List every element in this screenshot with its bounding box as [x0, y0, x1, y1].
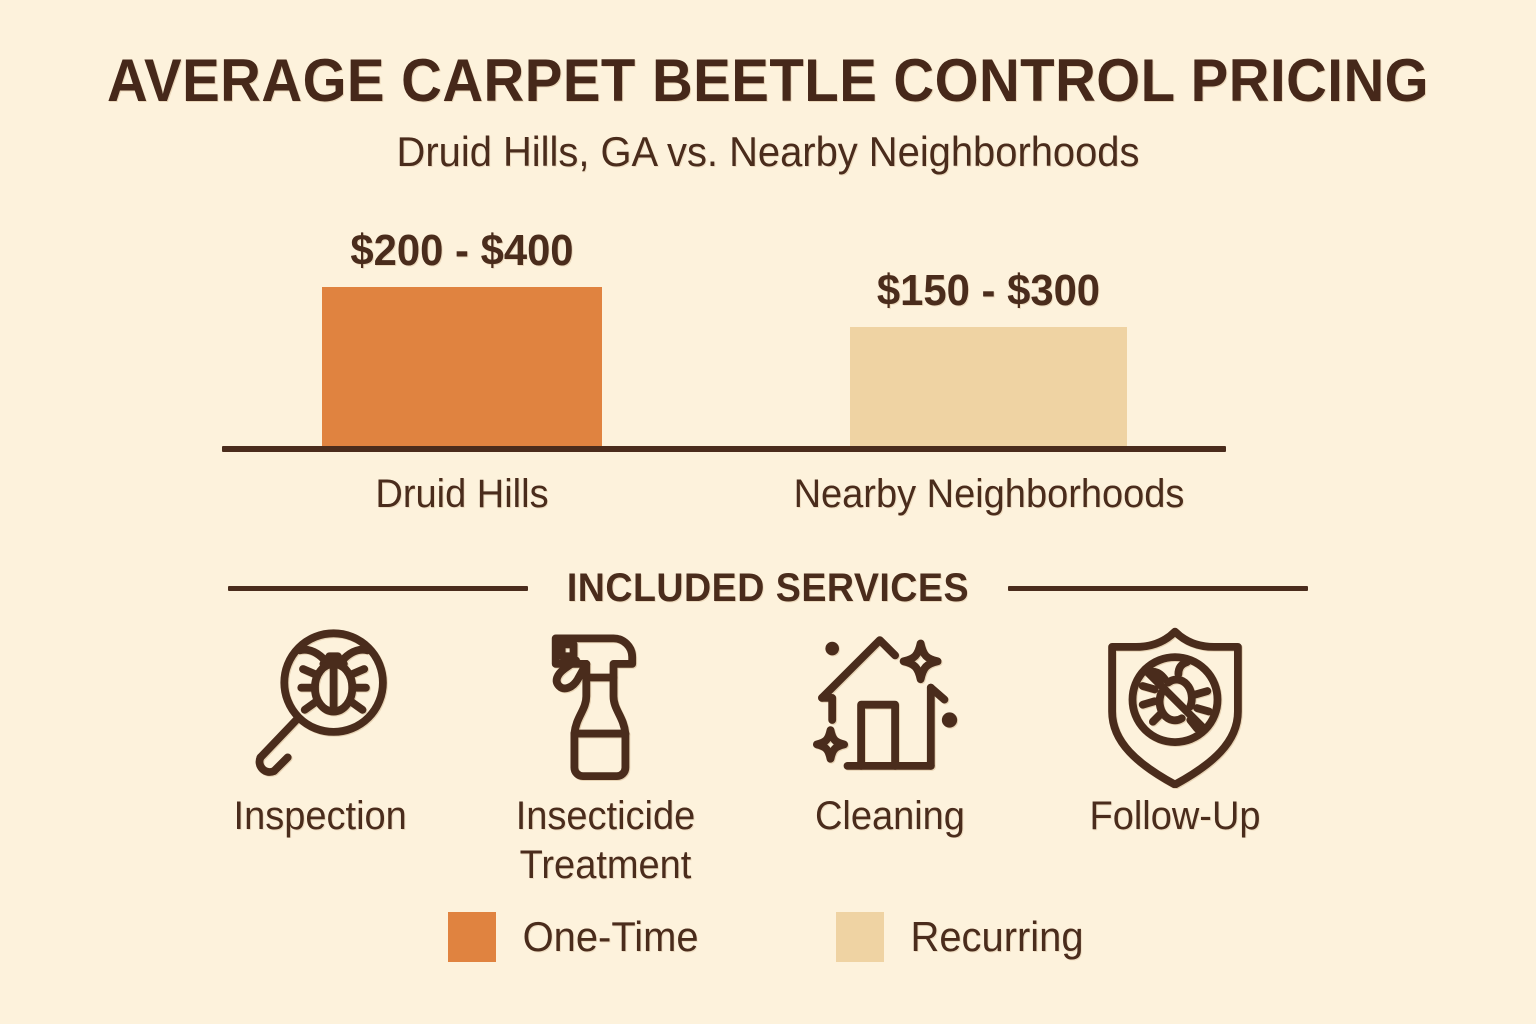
shield-no-bug-icon [1090, 618, 1260, 788]
included-services-heading: INCLUDED SERVICES [542, 566, 993, 611]
divider-line-left [228, 586, 528, 591]
pricing-bar-chart: $200 - $400 $150 - $300 Druid Hills Near… [0, 0, 1536, 540]
legend-item-recurring: Recurring [836, 912, 1088, 962]
divider-line-right [1008, 586, 1308, 591]
legend-swatch-one-time [448, 912, 496, 962]
bar-druid-hills [322, 287, 602, 447]
bar-category-nearby: Nearby Neighborhoods [779, 472, 1199, 517]
bars-container [0, 287, 1536, 447]
sparkling-house-icon [805, 618, 975, 788]
service-label-insecticide-treatment: Insecticide Treatment [515, 792, 695, 890]
legend-item-one-time: One-Time [448, 912, 703, 962]
service-item-insecticide-treatment: Insecticide Treatment [465, 618, 745, 890]
spray-bottle-icon [520, 618, 690, 788]
legend-label-recurring: Recurring [910, 913, 1083, 961]
legend-label-one-time: One-Time [523, 913, 699, 961]
chart-legend: One-Time Recurring [0, 912, 1536, 962]
service-item-follow-up: Follow-Up [1035, 618, 1315, 841]
service-label-cleaning: Cleaning [815, 792, 965, 841]
infographic-root: AVERAGE CARPET BEETLE CONTROL PRICING Dr… [0, 0, 1536, 1024]
bar-nearby-neighborhoods [850, 327, 1127, 447]
chart-baseline-axis [222, 446, 1226, 452]
legend-swatch-recurring [836, 912, 884, 962]
service-label-follow-up: Follow-Up [1089, 792, 1260, 841]
service-item-inspection: Inspection [180, 618, 460, 841]
included-services-list: Inspection Insecticide Treatme [180, 618, 1315, 888]
bar-value-druid-hills: $200 - $400 [329, 226, 595, 276]
service-item-cleaning: Cleaning [750, 618, 1030, 841]
bar-category-druid-hills: Druid Hills [291, 472, 633, 517]
included-services-divider: INCLUDED SERVICES [0, 560, 1536, 616]
service-label-inspection: Inspection [233, 792, 406, 841]
magnifier-bug-icon [235, 618, 405, 788]
